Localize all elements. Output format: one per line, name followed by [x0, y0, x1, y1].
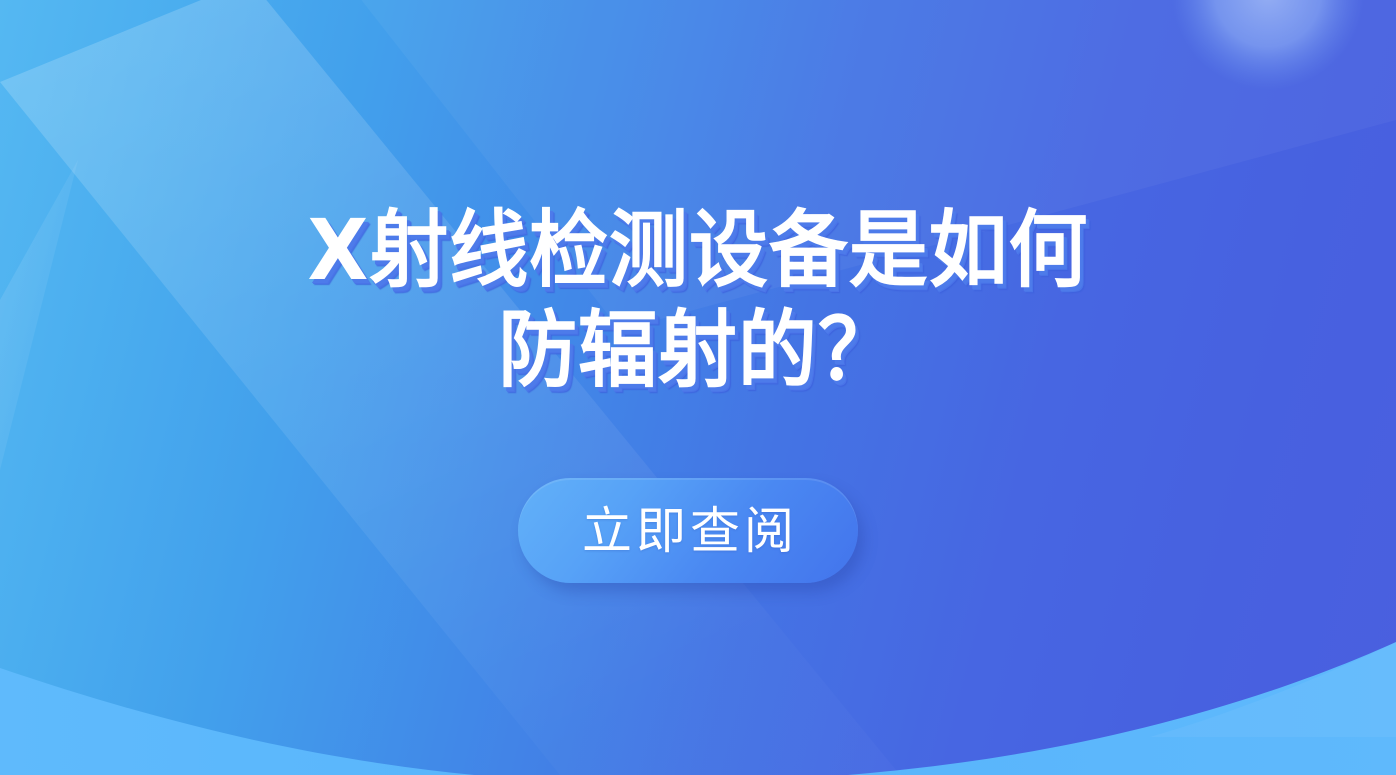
bottom-wave [0, 642, 1396, 775]
promo-banner: X射线检测设备是如何 防辐射的？ 立即查阅 [0, 0, 1396, 775]
view-now-button[interactable]: 立即查阅 [518, 478, 858, 583]
headline-line-1: X射线检测设备是如何 [42, 198, 1354, 302]
view-now-button-label: 立即查阅 [578, 506, 798, 556]
headline: X射线检测设备是如何 防辐射的？ [0, 198, 1396, 402]
glow-circle [1172, 0, 1364, 90]
headline-line-2: 防辐射的？ [42, 298, 1354, 402]
cta-container: 立即查阅 [518, 478, 858, 583]
wave-highlight [1150, 642, 1396, 737]
